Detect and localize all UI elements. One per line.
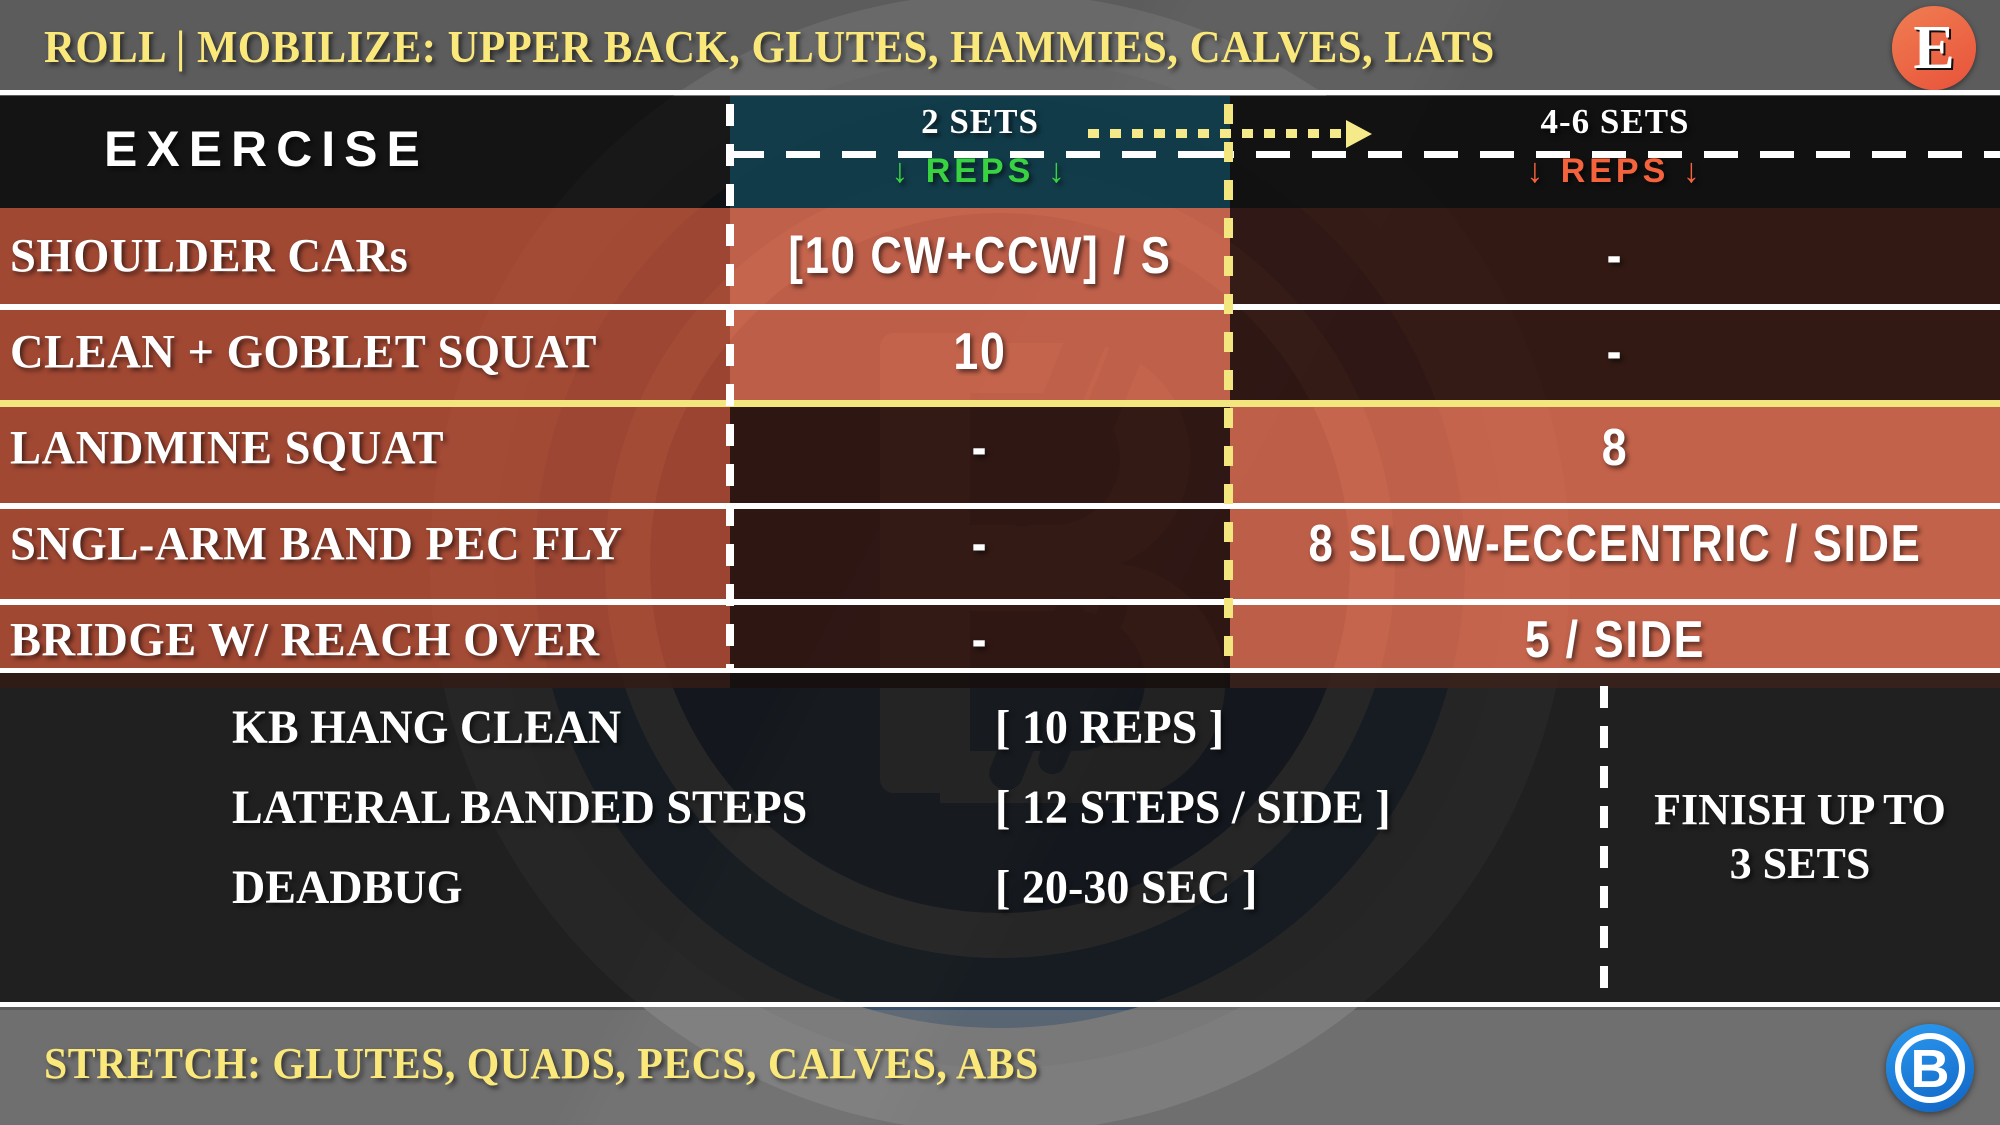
row-exercise-name-cell: CLEAN + GOBLET SQUAT [0, 304, 730, 400]
col1-value: [10 CW+CCW] / S [770, 226, 1190, 286]
row-col1-cell: - [730, 496, 1230, 592]
mobility-banner: ROLL | MOBILIZE: UPPER BACK, GLUTES, HAM… [0, 0, 2000, 92]
row-exercise-name-cell: SHOULDER CARs [0, 208, 730, 304]
finisher-list: KB HANG CLEAN [ 10 REPS ] LATERAL BANDED… [0, 694, 1600, 934]
header-col2-cell: 4-6 SETS ↓ REPS ↓ [1230, 96, 2000, 208]
header-col1-cell: 2 SETS ↓ REPS ↓ [730, 96, 1230, 208]
mobility-banner-text: ROLL | MOBILIZE: UPPER BACK, GLUTES, HAM… [44, 20, 1495, 73]
exercise-name: SHOULDER CARs [10, 229, 408, 284]
col2-reps-label: ↓ REPS ↓ [1230, 152, 2000, 191]
row-col2-cell: - [1230, 304, 2000, 400]
finisher-exercise-value: [ 20-30 SEC ] [995, 860, 1257, 915]
table-row: SHOULDER CARs [10 CW+CCW] / S - [0, 208, 2000, 304]
col1-value: - [765, 418, 1195, 478]
finisher-exercise-name: DEADBUG [232, 860, 462, 915]
brand-b-logo: B [1886, 1024, 1974, 1112]
col1-reps-label: ↓ REPS ↓ [730, 152, 1230, 191]
brand-e-logo-letter: E [1892, 6, 1976, 90]
row-col1-cell: 10 [730, 304, 1230, 400]
finisher-exercise-name: KB HANG CLEAN [232, 700, 621, 755]
finisher-exercise-name: LATERAL BANDED STEPS [232, 780, 807, 835]
table-row: CLEAN + GOBLET SQUAT 10 - [0, 304, 2000, 400]
finisher-sets-line1: FINISH UP TO [1654, 785, 1946, 834]
row-exercise-name-cell: SNGL-ARM BAND PEC FLY [0, 496, 730, 592]
col1-value: 10 [765, 322, 1195, 382]
finisher-sets-line2: 3 SETS [1730, 839, 1871, 888]
finisher-exercise-value: [ 10 REPS ] [995, 700, 1224, 755]
list-item: LATERAL BANDED STEPS [ 12 STEPS / SIDE ] [0, 774, 1600, 854]
col2-value: 5 / SIDE [1284, 610, 1946, 670]
col1-sets-label: 2 SETS [730, 102, 1230, 142]
row-col1-cell: [10 CW+CCW] / S [730, 208, 1230, 304]
column-divider-2 [1224, 104, 1233, 672]
list-item: DEADBUG [ 20-30 SEC ] [0, 854, 1600, 934]
row-col1-cell: - [730, 400, 1230, 496]
workout-table: EXERCISE 2 SETS ↓ REPS ↓ 4-6 SETS ↓ REPS… [0, 96, 2000, 688]
exercise-name: BRIDGE W/ REACH OVER [10, 613, 600, 668]
row-col2-cell: - [1230, 208, 2000, 304]
workout-infographic: ROLL | MOBILIZE: UPPER BACK, GLUTES, HAM… [0, 0, 2000, 1125]
brand-b-logo-letter: B [1886, 1024, 1974, 1112]
row-col2-cell: 8 [1230, 400, 2000, 496]
exercise-name: CLEAN + GOBLET SQUAT [10, 325, 597, 380]
finisher-divider [1600, 686, 1608, 988]
col2-value: - [1284, 322, 1946, 382]
row-col2-cell: 8 SLOW-ECCENTRIC / SIDE [1230, 496, 2000, 592]
col2-value: 8 [1284, 418, 1946, 478]
stretch-banner: STRETCH: GLUTES, QUADS, PECS, CALVES, AB… [0, 1010, 2000, 1125]
finisher-exercise-value: [ 12 STEPS / SIDE ] [995, 780, 1391, 835]
finisher-section: KB HANG CLEAN [ 10 REPS ] LATERAL BANDED… [0, 672, 2000, 1002]
row-exercise-name-cell: LANDMINE SQUAT [0, 400, 730, 496]
header-exercise-cell: EXERCISE [0, 96, 730, 208]
brand-e-logo: E [1892, 6, 1976, 90]
col1-value: - [765, 514, 1195, 574]
col2-value: - [1284, 226, 1946, 286]
list-item: KB HANG CLEAN [ 10 REPS ] [0, 694, 1600, 774]
col2-sets-label: 4-6 SETS [1230, 102, 2000, 142]
finisher-sets-note: FINISH UP TO 3 SETS [1600, 672, 2000, 1002]
table-row: SNGL-ARM BAND PEC FLY - 8 SLOW-ECCENTRIC… [0, 496, 2000, 592]
phase-divider [0, 400, 2000, 407]
exercise-name: LANDMINE SQUAT [10, 421, 444, 476]
col1-value: - [765, 610, 1195, 670]
col2-value: 8 SLOW-ECCENTRIC / SIDE [1292, 514, 1939, 574]
column-divider-1 [726, 104, 734, 672]
table-row: LANDMINE SQUAT - 8 [0, 400, 2000, 496]
table-header-row: EXERCISE 2 SETS ↓ REPS ↓ 4-6 SETS ↓ REPS… [0, 96, 2000, 208]
exercise-column-label: EXERCISE [104, 120, 429, 178]
stretch-banner-text: STRETCH: GLUTES, QUADS, PECS, CALVES, AB… [44, 1038, 1039, 1089]
exercise-name: SNGL-ARM BAND PEC FLY [10, 517, 622, 572]
